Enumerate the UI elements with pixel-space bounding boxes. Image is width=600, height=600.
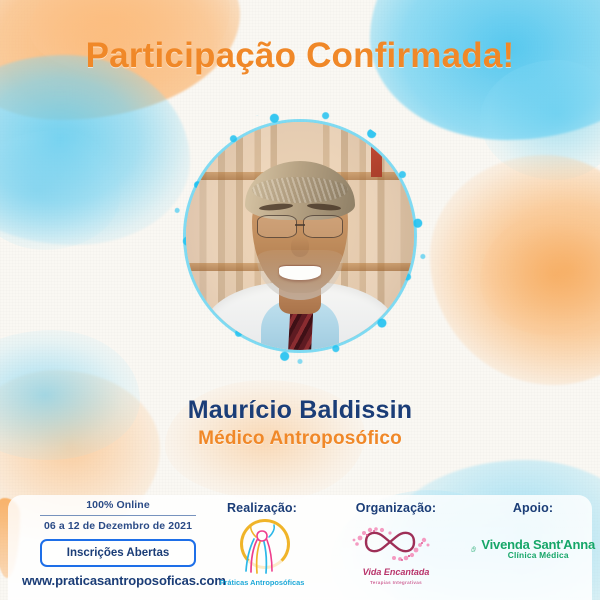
glasses-bridge xyxy=(295,224,305,226)
speaker-photo xyxy=(186,122,414,350)
bottom-info-band: 100% Online 06 a 12 de Dezembro de 2021 … xyxy=(8,495,592,600)
logo-subtext-vida-encantada: Terapias Integrativas xyxy=(370,580,422,585)
smile xyxy=(279,266,320,281)
logo-text-praticas: Práticas Antroposóficas xyxy=(220,578,305,587)
website-link[interactable]: www.praticasantroposoficas.com xyxy=(22,573,214,588)
page-title: Participação Confirmada! xyxy=(0,36,600,76)
poster-canvas: Participação Confirmada! xyxy=(0,0,600,600)
sponsor-organizacao: Organização: xyxy=(338,501,454,587)
figure-flow-icon xyxy=(226,523,298,579)
sponsor-apoio: Apoio: Vivenda Sant'Anna Clínica Médic xyxy=(470,501,596,587)
lens-left xyxy=(257,215,297,238)
event-date: 06 a 12 de Dezembro de 2021 xyxy=(22,520,214,532)
logo-vivenda-santanna[interactable]: Vivenda Sant'Anna Clínica Médica xyxy=(470,517,596,587)
logo-text-vida-encantada: Vida Encantada xyxy=(363,567,430,577)
sponsor-label-apoio: Apoio: xyxy=(470,501,596,515)
leaf-figure-icon xyxy=(471,532,476,566)
event-online-label: 100% Online xyxy=(22,499,214,511)
logo-text-vivenda: Vivenda Sant'Anna xyxy=(481,538,595,552)
speaker-name: Maurício Baldissin xyxy=(0,396,600,425)
sponsor-label-organizacao: Organização: xyxy=(338,501,454,515)
lens-right xyxy=(303,215,343,238)
registration-button[interactable]: Inscrições Abertas xyxy=(40,539,196,567)
speaker-role: Médico Antroposófico xyxy=(0,428,600,450)
sponsor-realizacao: Realização: xyxy=(212,501,312,587)
divider xyxy=(40,515,196,516)
speaker-portrait xyxy=(186,122,414,350)
logo-subtext-vivenda: Clínica Médica xyxy=(481,551,595,560)
infinity-flowers-icon xyxy=(346,519,446,565)
eyeglasses-icon xyxy=(257,215,344,236)
event-info-block: 100% Online 06 a 12 de Dezembro de 2021 … xyxy=(22,499,214,588)
logo-vida-encantada[interactable]: Vida Encantada Terapias Integrativas xyxy=(338,517,454,587)
necktie xyxy=(287,308,312,350)
sponsor-label-realizacao: Realização: xyxy=(212,501,312,515)
logo-praticas-antroposoficas[interactable]: Práticas Antroposóficas xyxy=(212,517,312,587)
